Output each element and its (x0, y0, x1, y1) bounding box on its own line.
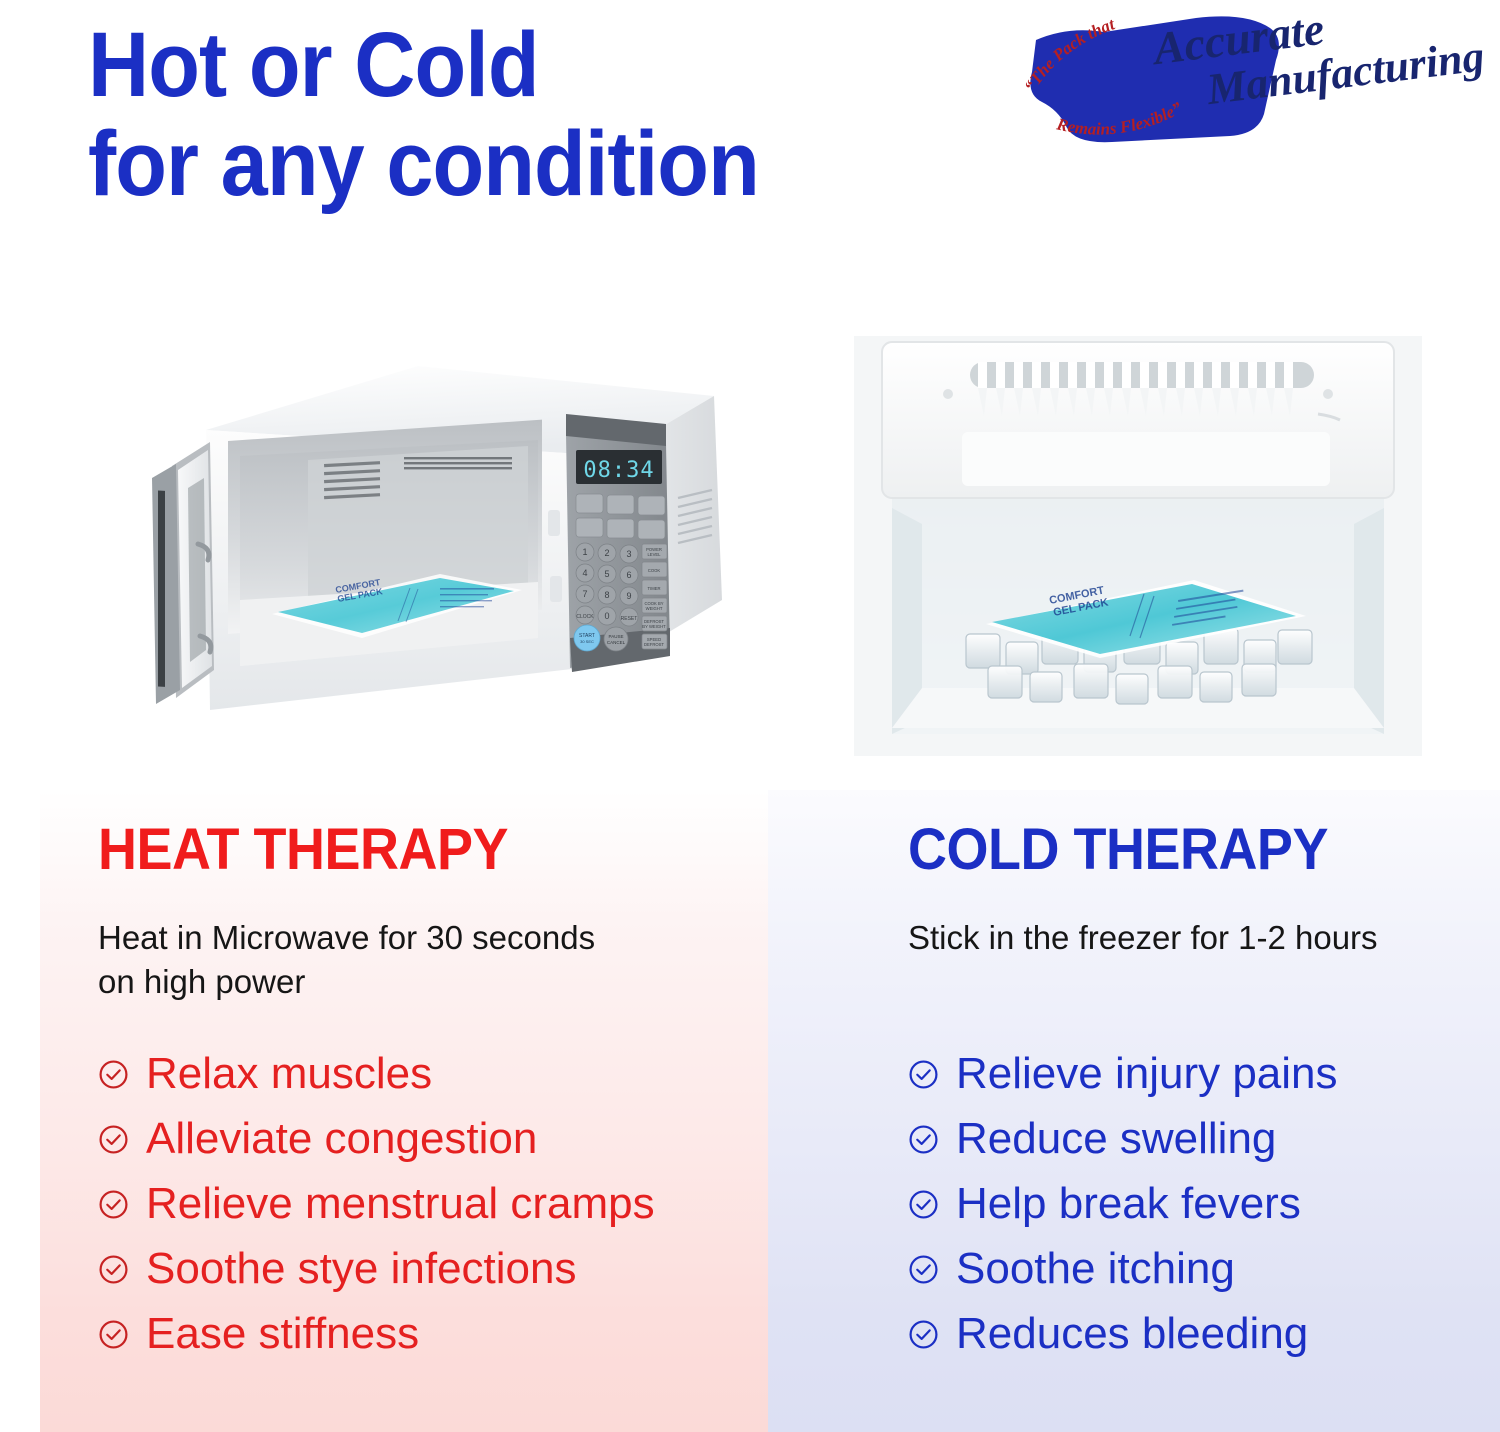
svg-text:CLOCK: CLOCK (576, 614, 594, 620)
heat-benefit-label: Ease stiffness (146, 1312, 419, 1356)
list-item: Relieve menstrual cramps (98, 1182, 655, 1226)
microwave-interior: COMFORT GEL PACK (240, 440, 538, 666)
list-item: Alleviate congestion (98, 1117, 655, 1161)
heat-benefits-list: Relax musclesAlleviate congestionRelieve… (98, 1052, 655, 1377)
check-circle-icon (98, 1254, 129, 1285)
heat-therapy-title: HEAT THERAPY (98, 816, 508, 883)
svg-text:PAUSE: PAUSE (609, 634, 624, 639)
list-item: Relax muscles (98, 1052, 655, 1096)
page-title: Hot or Cold for any condition (88, 16, 916, 215)
svg-text:9: 9 (626, 591, 631, 601)
svg-text:0: 0 (604, 611, 609, 621)
list-item: Help break fevers (908, 1182, 1338, 1226)
svg-text:2: 2 (604, 548, 609, 558)
check-circle-icon (908, 1189, 939, 1220)
svg-text:3: 3 (626, 549, 631, 559)
company-logo: “The Pack that Remains Flexible” Accurat… (1008, 6, 1492, 146)
check-circle-icon (908, 1059, 939, 1090)
list-item: Reduces bleeding (908, 1312, 1338, 1356)
control-panel[interactable]: 08:34 (566, 414, 670, 672)
cold-benefit-label: Help break fevers (956, 1182, 1301, 1226)
start-button[interactable]: START 30 SEC (574, 625, 600, 651)
lid-screw-right (1323, 389, 1333, 399)
svg-text:WEIGHT: WEIGHT (646, 606, 663, 611)
svg-text:BY WEIGHT: BY WEIGHT (642, 624, 666, 629)
list-item: Relieve injury pains (908, 1052, 1338, 1096)
svg-text:6: 6 (626, 570, 631, 580)
svg-text:LEVEL: LEVEL (647, 552, 661, 557)
display-time: 08:34 (583, 458, 654, 483)
check-circle-icon (908, 1254, 939, 1285)
cold-benefits-list: Relieve injury painsReduce swellingHelp … (908, 1052, 1338, 1377)
cold-therapy-panel: COLD THERAPY Stick in the freezer for 1-… (768, 790, 1500, 1432)
heat-benefit-label: Soothe stye infections (146, 1247, 576, 1291)
lid-screw-left (943, 389, 953, 399)
svg-text:4: 4 (582, 568, 587, 578)
check-circle-icon (98, 1319, 129, 1350)
dinner-plate-icon (607, 519, 634, 538)
list-item: Soothe itching (908, 1247, 1338, 1291)
svg-text:7: 7 (582, 589, 587, 599)
potato-icon (607, 495, 634, 514)
list-item: Soothe stye infections (98, 1247, 655, 1291)
list-item: Reduce swelling (908, 1117, 1338, 1161)
check-circle-icon (98, 1189, 129, 1220)
reheat-icon (638, 520, 665, 539)
check-circle-icon (98, 1059, 129, 1090)
pause-cancel-button[interactable]: PAUSE CANCEL (604, 627, 628, 651)
microwave-photo: COMFORT GEL PACK (110, 338, 770, 788)
microwave-display: 08:34 (576, 450, 662, 484)
check-circle-icon (98, 1124, 129, 1155)
heat-therapy-panel: HEAT THERAPY Heat in Microwave for 30 se… (40, 790, 768, 1432)
pizza-icon (638, 496, 665, 515)
svg-text:DEFROST: DEFROST (644, 642, 664, 647)
svg-text:COOK: COOK (648, 568, 661, 573)
heat-benefit-label: Relieve menstrual cramps (146, 1182, 655, 1226)
svg-text:5: 5 (604, 569, 609, 579)
cold-benefit-label: Reduces bleeding (956, 1312, 1308, 1356)
cold-benefit-label: Relieve injury pains (956, 1052, 1338, 1096)
cold-therapy-subtitle: Stick in the freezer for 1-2 hours (908, 916, 1500, 960)
beverage-icon (576, 518, 603, 537)
freezer-photo: COMFORT GEL PACK (838, 328, 1438, 778)
svg-text:1: 1 (582, 547, 587, 557)
list-item: Ease stiffness (98, 1312, 655, 1356)
svg-text:30 SEC: 30 SEC (580, 639, 594, 644)
cold-benefit-label: Reduce swelling (956, 1117, 1276, 1161)
svg-text:CANCEL: CANCEL (607, 640, 626, 645)
heat-benefit-label: Alleviate congestion (146, 1117, 537, 1161)
freezer-lid (882, 342, 1394, 498)
popcorn-icon (576, 494, 603, 513)
door-latch (548, 510, 560, 536)
product-photos: COMFORT GEL PACK (0, 300, 1500, 800)
check-circle-icon (908, 1124, 939, 1155)
header: Hot or Cold for any condition “The Pack … (0, 0, 1500, 300)
heat-therapy-subtitle: Heat in Microwave for 30 seconds on high… (98, 916, 738, 1003)
microwave-door (152, 442, 214, 704)
check-circle-icon (908, 1319, 939, 1350)
svg-text:RESET: RESET (621, 616, 638, 622)
door-latch-2 (550, 576, 562, 602)
cold-therapy-title: COLD THERAPY (908, 816, 1328, 883)
cold-benefit-label: Soothe itching (956, 1247, 1235, 1291)
heat-benefit-label: Relax muscles (146, 1052, 432, 1096)
therapy-panels: HEAT THERAPY Heat in Microwave for 30 se… (0, 790, 1500, 1432)
svg-text:8: 8 (604, 590, 609, 600)
svg-text:TIMER: TIMER (647, 586, 660, 591)
